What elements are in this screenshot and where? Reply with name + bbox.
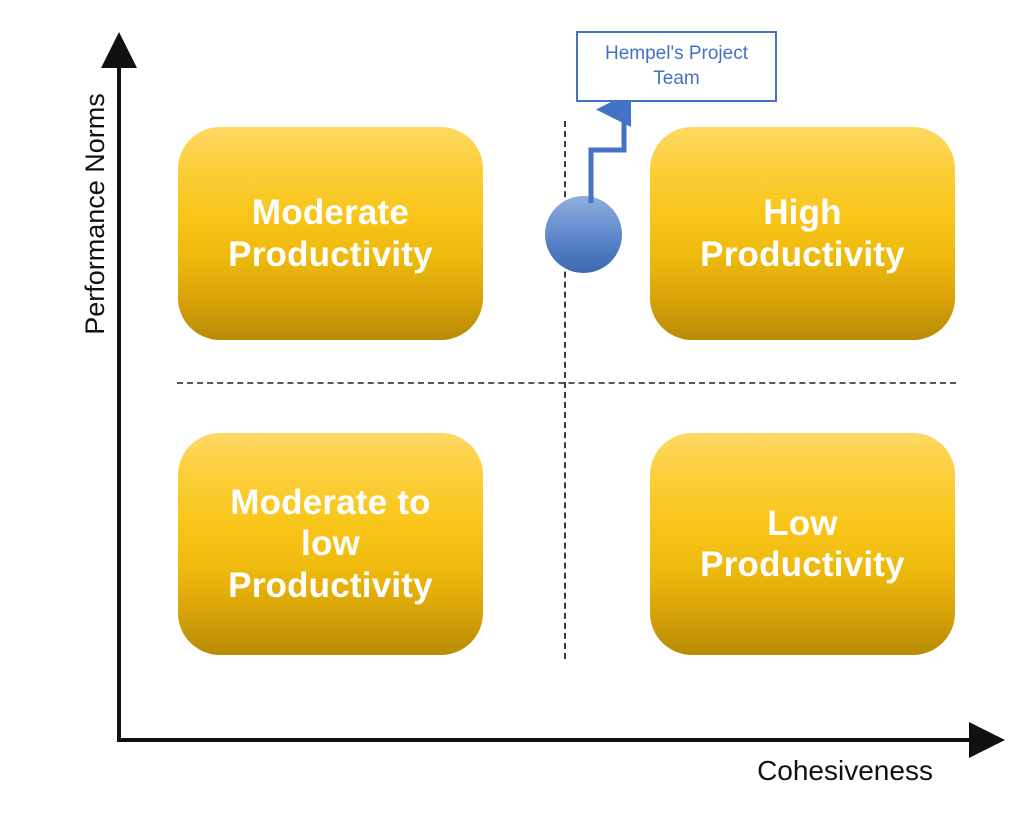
horizontal-divider-dashed bbox=[177, 382, 956, 384]
callout-label: Hempel's Project Team bbox=[605, 42, 748, 91]
quadrant-label: Moderate Productivity bbox=[214, 192, 447, 275]
callout-arrow bbox=[591, 112, 624, 203]
data-point-marker[interactable] bbox=[545, 196, 622, 273]
axes-group bbox=[0, 0, 1015, 821]
callout-hempels-project-team[interactable]: Hempel's Project Team bbox=[576, 31, 777, 102]
quadrant-label: Moderate to low Productivity bbox=[214, 482, 447, 606]
callout-connector-group bbox=[0, 0, 1015, 821]
quadrant-low-productivity[interactable]: Low Productivity bbox=[650, 433, 955, 655]
quadrant-high-productivity[interactable]: High Productivity bbox=[650, 127, 955, 340]
y-axis-title: Performance Norms bbox=[73, 49, 117, 379]
quadrant-label: Low Productivity bbox=[686, 503, 919, 586]
quadrant-diagram-canvas: Moderate Productivity High Productivity … bbox=[0, 0, 1015, 821]
quadrant-moderate-to-low-productivity[interactable]: Moderate to low Productivity bbox=[178, 433, 483, 655]
quadrant-moderate-productivity[interactable]: Moderate Productivity bbox=[178, 127, 483, 340]
x-axis-title: Cohesiveness bbox=[700, 755, 990, 787]
quadrant-label: High Productivity bbox=[686, 192, 919, 275]
